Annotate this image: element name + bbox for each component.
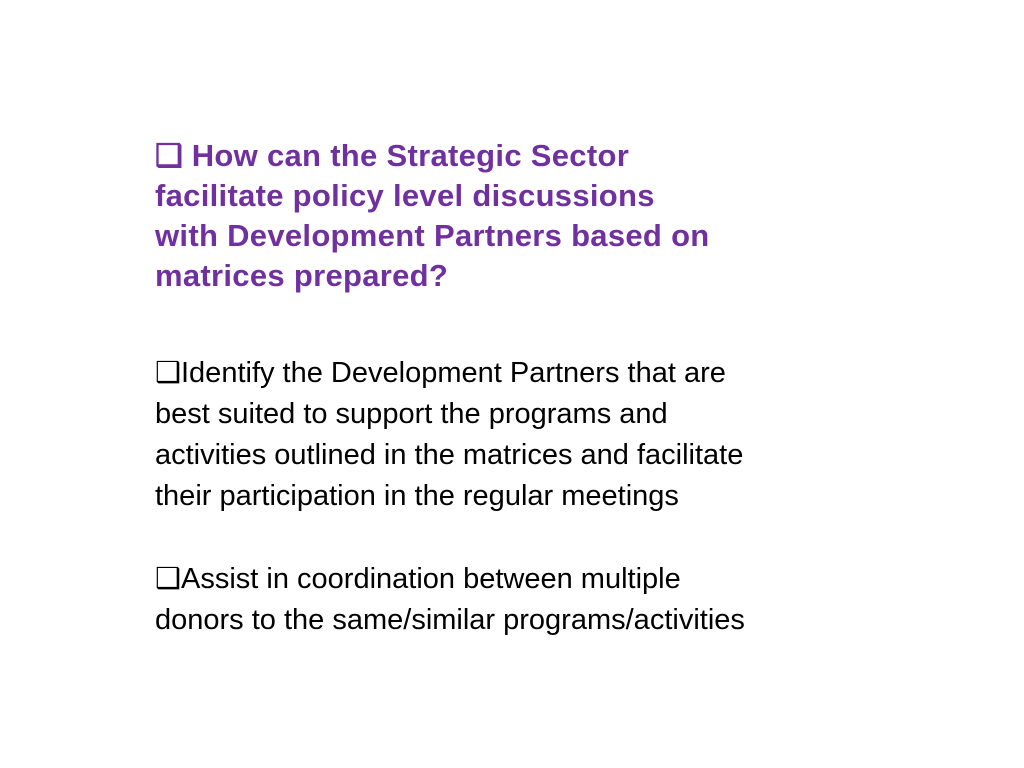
slide-content: ❑ How can the Strategic Sector facilitat…	[155, 136, 875, 641]
heading-text: How can the Strategic Sector facilitate …	[155, 138, 710, 293]
square-bullet-icon: ❑	[155, 563, 181, 595]
heading-line-group: ❑ How can the Strategic Sector facilitat…	[155, 136, 875, 296]
body-text-2: Assist in coordination between multiple …	[155, 563, 745, 636]
heading-bullet-item: ❑ How can the Strategic Sector facilitat…	[155, 136, 875, 296]
body-bullet-item-2: ❑Assist in coordination between multiple…	[155, 559, 875, 641]
body-paragraph-2: ❑Assist in coordination between multiple…	[155, 559, 875, 641]
body-bullet-item-1: ❑Identify the Development Partners that …	[155, 353, 875, 517]
body-paragraph-1: ❑Identify the Development Partners that …	[155, 353, 875, 517]
square-bullet-icon: ❑	[155, 138, 183, 173]
slide-canvas: ❑ How can the Strategic Sector facilitat…	[0, 0, 1024, 768]
square-bullet-icon: ❑	[155, 357, 181, 389]
body-text-1: Identify the Development Partners that a…	[155, 357, 743, 512]
